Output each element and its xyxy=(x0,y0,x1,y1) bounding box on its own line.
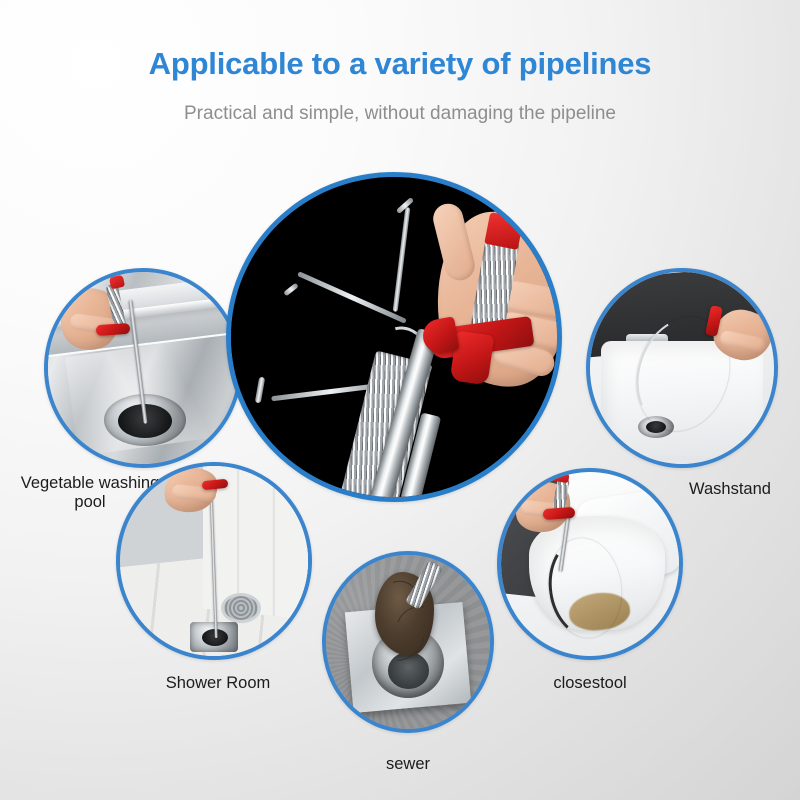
page-subtitle: Practical and simple, without damaging t… xyxy=(0,103,800,125)
caption-closestool: closestool xyxy=(505,674,675,693)
claw-hook-lower-left-tip xyxy=(255,377,265,404)
product-infographic-poster: Applicable to a variety of pipelines Pra… xyxy=(0,0,800,800)
scene-washstand xyxy=(590,272,774,464)
tool-red-handle-toilet xyxy=(543,507,576,520)
shower-round-strainer xyxy=(224,596,258,620)
claw-hook-left-tip xyxy=(283,283,299,297)
scene-steel-sink xyxy=(48,272,238,464)
scene-bubble-sewer xyxy=(322,551,494,733)
handle-red-cap xyxy=(484,212,523,250)
caption-sewer: sewer xyxy=(328,755,488,774)
page-title: Applicable to a variety of pipelines xyxy=(0,46,800,82)
caption-washstand: Washstand xyxy=(660,480,800,499)
scene-bubble-washstand xyxy=(586,268,778,468)
caption-shower-room: Shower Room xyxy=(128,674,308,693)
scene-bubble-vegetable-washing-pool xyxy=(44,268,242,468)
tool-red-handle-sink xyxy=(96,323,131,336)
claw-hook-top xyxy=(393,207,411,312)
scene-sewer xyxy=(326,555,490,729)
center-product-photo xyxy=(226,172,562,502)
scene-closestool xyxy=(501,472,679,656)
claw-hook-left xyxy=(297,271,407,324)
scene-tool-closeup xyxy=(231,177,557,497)
